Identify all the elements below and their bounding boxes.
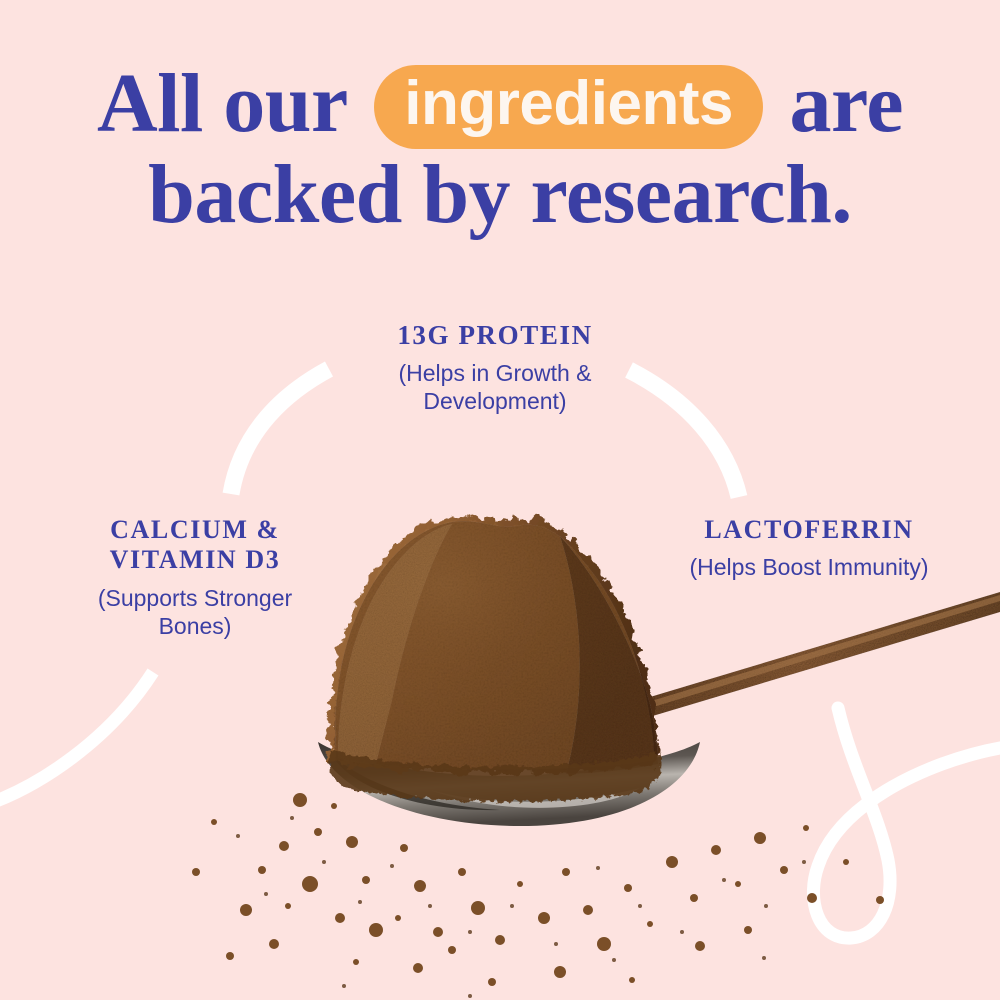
feature-lactoferrin-subtitle: (Helps Boost Immunity) (634, 554, 984, 582)
headline-line-2: backed by research. (0, 155, 1000, 235)
feature-protein: 13G PROTEIN (Helps in Growth & Developme… (320, 320, 670, 416)
headline-text-after: are (789, 64, 903, 144)
feature-calcium-subtitle: (Supports Stronger Bones) (20, 585, 370, 640)
feature-calcium-title: CALCIUM & VITAMIN D3 (20, 515, 370, 575)
feature-protein-title: 13G PROTEIN (320, 320, 670, 351)
highlight-pill-ingredients: ingredients (374, 65, 763, 149)
falling-powder-fines (236, 816, 806, 998)
feature-lactoferrin-title: LACTOFERRIN (634, 515, 984, 545)
headline: All our ingredients are backed by resear… (0, 64, 1000, 235)
feature-protein-subtitle: (Helps in Growth & Development) (320, 360, 670, 415)
feature-lactoferrin: LACTOFERRIN (Helps Boost Immunity) (634, 515, 984, 582)
headline-line-1: All our ingredients are (0, 64, 1000, 149)
powder-mound (329, 515, 660, 774)
feature-calcium: CALCIUM & VITAMIN D3 (Supports Stronger … (20, 515, 370, 641)
poster-canvas: All our ingredients are backed by resear… (0, 0, 1000, 1000)
headline-text-before: All our (97, 64, 348, 144)
spoon-handle (640, 592, 1000, 718)
